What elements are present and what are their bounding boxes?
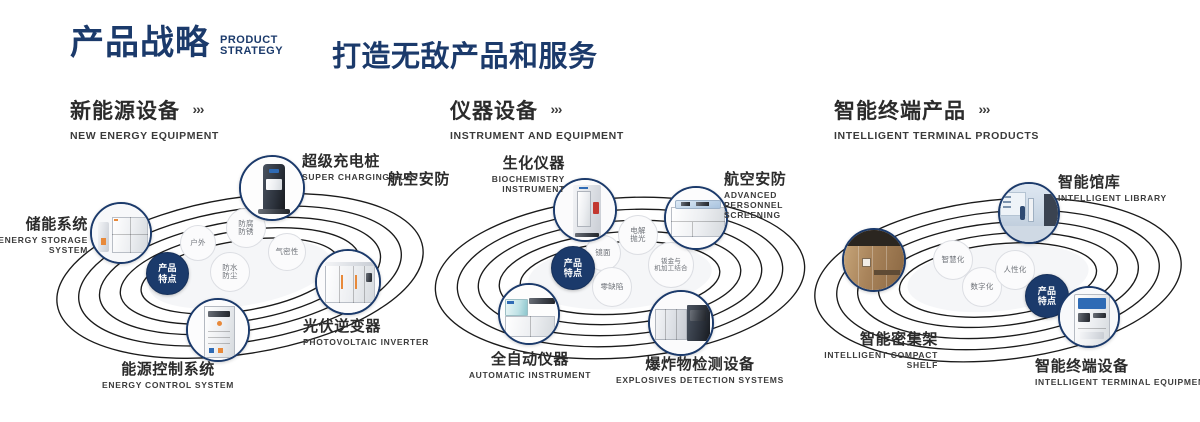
product-label-energy-storage: 储能系统 ENERGY STORAGE SYSTEM — [0, 213, 88, 255]
section-title-cn: 新能源设备 — [70, 95, 180, 125]
product-label-en: BIOCHEMISTRY INSTRUMENT — [455, 174, 565, 194]
cluster-instrument: 镜面 电解抛光 钣金与机加工结合 零缺陷 产品特点 — [420, 150, 820, 400]
product-label-intelligent-library: 智能馆库 INTELLIGENT LIBRARY — [1058, 171, 1167, 203]
product-node-energy-storage[interactable] — [90, 202, 152, 264]
product-node-automatic-instrument[interactable] — [498, 283, 560, 345]
section-title-new-energy: 新能源设备 ››› NEW ENERGY EQUIPMENT — [70, 95, 219, 142]
section-title-instrument: 仪器设备 ››› INSTRUMENT AND EQUIPMENT — [450, 95, 624, 142]
product-label-en: INTELLIGENT COMPACT SHELF — [818, 350, 938, 370]
page-header: 产品战略 PRODUCT STRATEGY — [70, 26, 283, 60]
product-node-explosives-detection[interactable] — [648, 290, 714, 356]
product-label-aviation-security-left: 航空安防 — [360, 168, 450, 189]
product-node-intelligent-compact-shelf[interactable] — [842, 228, 906, 292]
section-title-en: INSTRUMENT AND EQUIPMENT — [450, 130, 624, 142]
center-bubble-product-features: 产品特点 — [146, 252, 189, 295]
product-label-cn: 智能终端设备 — [1035, 355, 1200, 376]
product-label-explosives-detection: 爆炸物检测设备 EXPLOSIVES DETECTION SYSTEMS — [600, 353, 800, 385]
product-label-en: ENERGY CONTROL SYSTEM — [78, 380, 258, 390]
cluster-intelligent-terminal: 智慧化 数字化 人性化 产品特点 — [800, 150, 1200, 400]
product-label-photovoltaic-inverter: 光伏逆变器 PHOTOVOLTAIC INVERTER — [303, 315, 429, 347]
feature-bubble: 电解抛光 — [618, 215, 658, 255]
section-title-cn: 仪器设备 — [450, 95, 538, 125]
feature-bubble: 零缺陷 — [592, 267, 632, 307]
product-node-super-charging-hub[interactable] — [239, 155, 305, 221]
product-label-cn: 智能密集架 — [818, 328, 938, 349]
section-title-en: INTELLIGENT TERMINAL PRODUCTS — [834, 130, 1039, 142]
feature-bubble: 防水防尘 — [210, 252, 250, 292]
product-label-en: ENERGY STORAGE SYSTEM — [0, 235, 88, 255]
page-title-en: PRODUCT STRATEGY — [220, 35, 283, 57]
product-label-en: INTELLIGENT LIBRARY — [1058, 193, 1167, 203]
section-title-en: NEW ENERGY EQUIPMENT — [70, 130, 219, 142]
product-label-cn: 爆炸物检测设备 — [600, 353, 800, 374]
product-label-energy-control-system: 能源控制系统 ENERGY CONTROL SYSTEM — [78, 358, 258, 390]
chevron-triple-icon: ››› — [550, 101, 561, 117]
product-strategy-infographic: 产品战略 PRODUCT STRATEGY 打造无敌产品和服务 新能源设备 ››… — [0, 0, 1200, 422]
product-label-cn: 能源控制系统 — [78, 358, 258, 379]
page-title-cn: 产品战略 — [70, 26, 210, 60]
feature-bubble: 气密性 — [268, 233, 306, 271]
page-slogan: 打造无敌产品和服务 — [332, 33, 598, 75]
page-title-en-line2: STRATEGY — [220, 46, 283, 57]
product-label-en: PHOTOVOLTAIC INVERTER — [303, 337, 429, 347]
product-node-intelligent-library[interactable] — [998, 182, 1060, 244]
product-label-intelligent-compact-shelf: 智能密集架 INTELLIGENT COMPACT SHELF — [818, 328, 938, 370]
product-label-en: EXPLOSIVES DETECTION SYSTEMS — [600, 375, 800, 385]
product-label-en: AUTOMATIC INSTRUMENT — [450, 370, 610, 380]
feature-bubble: 户外 — [180, 225, 216, 261]
product-node-advanced-personnel-screening[interactable] — [664, 186, 728, 250]
product-node-intelligent-terminal-equipment[interactable] — [1058, 286, 1120, 348]
product-label-intelligent-terminal-equipment: 智能终端设备 INTELLIGENT TERMINAL EQUIPMENT — [1035, 355, 1200, 387]
product-label-en: INTELLIGENT TERMINAL EQUIPMENT — [1035, 377, 1200, 387]
product-label-cn: 生化仪器 — [455, 152, 565, 173]
chevron-triple-icon: ››› — [978, 101, 989, 117]
section-title-intelligent-terminal: 智能终端产品 ››› INTELLIGENT TERMINAL PRODUCTS — [834, 95, 1039, 142]
center-bubble-product-features: 产品特点 — [551, 246, 595, 290]
product-label-automatic-instrument: 全自动仪器 AUTOMATIC INSTRUMENT — [450, 348, 610, 380]
product-label-biochemistry-instrument: 生化仪器 BIOCHEMISTRY INSTRUMENT — [455, 152, 565, 194]
chevron-triple-icon: ››› — [192, 101, 203, 117]
product-label-cn: 智能馆库 — [1058, 171, 1167, 192]
section-title-cn: 智能终端产品 — [834, 95, 966, 125]
product-node-energy-control-system[interactable] — [186, 298, 250, 362]
product-node-photovoltaic-inverter[interactable] — [315, 249, 381, 315]
product-label-cn: 航空安防 — [360, 168, 450, 189]
product-label-cn: 全自动仪器 — [450, 348, 610, 369]
product-label-cn: 储能系统 — [0, 213, 88, 234]
product-label-cn: 光伏逆变器 — [303, 315, 429, 336]
